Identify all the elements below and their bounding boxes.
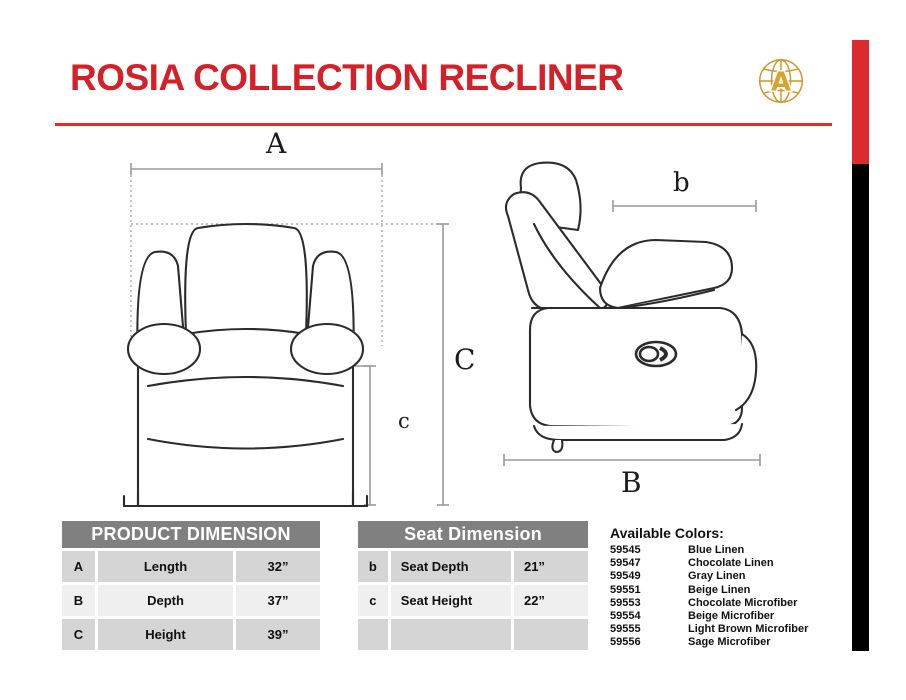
seat-row-key: c <box>358 585 388 616</box>
page-title: ROSIA COLLECTION RECLINER <box>70 57 623 99</box>
color-code: 59556 <box>610 636 688 649</box>
seat-row-key: b <box>358 551 388 582</box>
color-code: 59545 <box>610 544 688 557</box>
list-item: 59553 Chocolate Microfiber <box>610 597 850 610</box>
table-row-empty <box>358 619 588 650</box>
product-row-value: 37” <box>236 585 320 616</box>
svg-text:A: A <box>771 68 791 98</box>
dimension-label-a: A <box>266 130 286 158</box>
table-row: b Seat Depth 21” <box>358 551 588 582</box>
product-dimension-table-heading: PRODUCT DIMENSION <box>62 521 320 548</box>
product-row-value: 32” <box>236 551 320 582</box>
dimension-label-b-seat-depth: b <box>673 170 690 196</box>
seat-row-name <box>391 619 511 650</box>
seat-row-value <box>514 619 588 650</box>
recliner-side-view: b B <box>488 158 788 503</box>
color-code: 59554 <box>610 610 688 623</box>
product-row-name: Length <box>98 551 233 582</box>
color-code: 59553 <box>610 597 688 610</box>
color-name: Chocolate Linen <box>688 557 850 570</box>
color-name: Chocolate Microfiber <box>688 597 850 610</box>
seat-dimension-table: Seat Dimension b Seat Depth 21” c Seat H… <box>358 521 588 650</box>
list-item: 59555 Light Brown Microfiber <box>610 623 850 636</box>
list-item: 59551 Beige Linen <box>610 584 850 597</box>
accent-bar-red <box>852 40 869 164</box>
seat-row-name: Seat Depth <box>391 551 511 582</box>
seat-row-value: 21” <box>514 551 588 582</box>
product-row-key: B <box>62 585 95 616</box>
globe-a-logo-icon: A <box>753 53 809 109</box>
product-row-name: Depth <box>98 585 233 616</box>
color-name: Sage Microfiber <box>688 636 850 649</box>
product-row-value: 39” <box>236 619 320 650</box>
seat-row-value: 22” <box>514 585 588 616</box>
seat-row-key <box>358 619 388 650</box>
seat-row-name: Seat Height <box>391 585 511 616</box>
table-row: C Height 39” <box>62 619 320 650</box>
product-dimension-table: PRODUCT DIMENSION A Length 32” B Depth 3… <box>62 521 320 650</box>
dimension-label-b-depth: B <box>621 469 642 497</box>
spec-sheet: ROSIA COLLECTION RECLINER A <box>0 0 906 700</box>
color-code: 59549 <box>610 570 688 583</box>
available-colors-list: Available Colors: 59545 Blue Linen 59547… <box>610 525 850 650</box>
table-row: B Depth 37” <box>62 585 320 616</box>
available-colors-heading: Available Colors: <box>610 525 850 541</box>
seat-dimension-table-heading: Seat Dimension <box>358 521 588 548</box>
list-item: 59545 Blue Linen <box>610 544 850 557</box>
color-name: Beige Microfiber <box>688 610 850 623</box>
color-name: Beige Linen <box>688 584 850 597</box>
recliner-front-view: A C c <box>98 134 488 509</box>
color-name: Blue Linen <box>688 544 850 557</box>
list-item: 59554 Beige Microfiber <box>610 610 850 623</box>
table-row: A Length 32” <box>62 551 320 582</box>
color-code: 59551 <box>610 584 688 597</box>
color-name: Light Brown Microfiber <box>688 623 850 636</box>
list-item: 59549 Gray Linen <box>610 570 850 583</box>
product-row-key: C <box>62 619 95 650</box>
accent-bar-black <box>852 164 869 651</box>
dimension-label-c-height: C <box>454 346 475 374</box>
list-item: 59556 Sage Microfiber <box>610 636 850 649</box>
product-row-key: A <box>62 551 95 582</box>
color-code: 59547 <box>610 557 688 570</box>
dimension-label-c-seat-height: c <box>398 411 410 432</box>
list-item: 59547 Chocolate Linen <box>610 557 850 570</box>
title-divider <box>55 123 832 126</box>
table-row: c Seat Height 22” <box>358 585 588 616</box>
color-name: Gray Linen <box>688 570 850 583</box>
product-row-name: Height <box>98 619 233 650</box>
color-code: 59555 <box>610 623 688 636</box>
